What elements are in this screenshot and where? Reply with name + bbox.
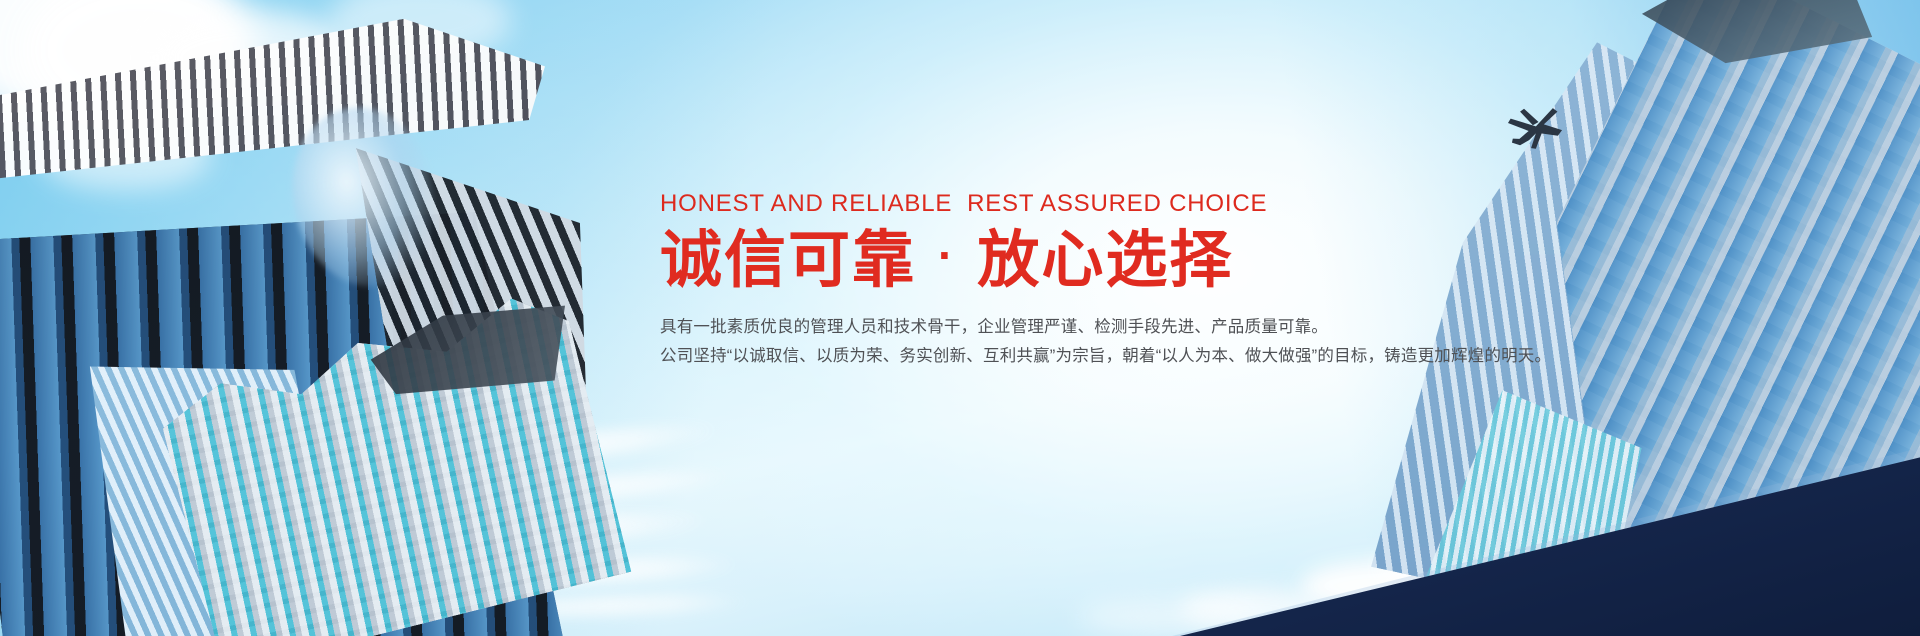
headline-phrase-right: 放心选择	[977, 226, 1233, 295]
banner-headline: 诚信可靠·放心选择	[660, 224, 1660, 297]
hero-banner: HONEST AND RELIABLE REST ASSURED CHOICE …	[0, 0, 1920, 636]
banner-eyebrow: HONEST AND RELIABLE REST ASSURED CHOICE	[660, 190, 1660, 218]
headline-phrase-left: 诚信可靠	[660, 226, 916, 295]
headline-separator: ·	[938, 228, 955, 282]
banner-description-line-2: 公司坚持“以诚取信、以质为荣、务实创新、互利共赢”为宗旨，朝着“以人为本、做大做…	[660, 342, 1660, 371]
banner-description-line-1: 具有一批素质优良的管理人员和技术骨干，企业管理严谨、检测手段先进、产品质量可靠。	[660, 313, 1660, 342]
banner-copy: HONEST AND RELIABLE REST ASSURED CHOICE …	[660, 190, 1660, 371]
